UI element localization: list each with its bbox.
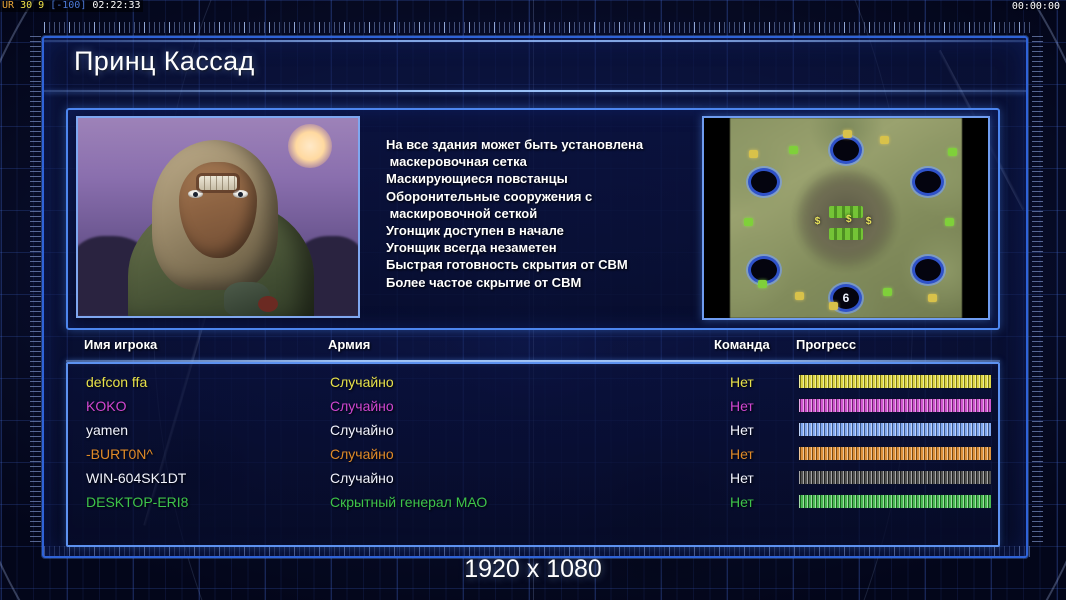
player-progress-bar bbox=[798, 494, 992, 509]
player-army[interactable]: Случайно bbox=[330, 470, 394, 486]
player-progress-fill bbox=[799, 423, 991, 436]
general-portrait bbox=[76, 116, 360, 318]
player-progress-bar bbox=[798, 446, 992, 461]
map-supply-8 bbox=[758, 280, 767, 288]
player-team[interactable]: Нет bbox=[730, 446, 754, 462]
player-name: KOKO bbox=[86, 398, 126, 414]
map-supply-12 bbox=[829, 302, 838, 310]
player-progress-fill bbox=[799, 447, 991, 460]
player-army[interactable]: Случайно bbox=[330, 422, 394, 438]
portrait-teapot bbox=[224, 282, 270, 316]
map-supply-4 bbox=[948, 148, 957, 156]
player-row[interactable]: defcon ffaСлучайноНет bbox=[68, 370, 998, 394]
player-army[interactable]: Скрытный генерал МАО bbox=[330, 494, 487, 510]
map-cash-left: $ bbox=[815, 216, 821, 227]
column-header-team: Команда bbox=[714, 337, 770, 352]
general-features-list: На все здания может быть установлена мас… bbox=[386, 136, 686, 291]
page-title: Принц Кассад bbox=[74, 46, 255, 77]
column-header-army: Армия bbox=[328, 337, 370, 352]
player-list-panel: defcon ffaСлучайноНетKOKOСлучайноНетyame… bbox=[66, 362, 1000, 547]
map-supply-center-lower bbox=[829, 228, 863, 240]
debug-ping: 9 bbox=[38, 0, 44, 11]
debug-fps: 30 bbox=[20, 0, 32, 11]
title-bar: Принц Кассад bbox=[44, 38, 1026, 92]
ruler-left bbox=[30, 36, 41, 544]
portrait-pupil-right bbox=[238, 192, 243, 197]
player-name: -BURT0N^ bbox=[86, 446, 153, 462]
debug-session-time: 02:22:33 bbox=[92, 0, 140, 11]
map-cash-right: $ bbox=[866, 216, 872, 227]
map-supply-9 bbox=[795, 292, 804, 300]
map-start-position-bottom-left bbox=[751, 259, 777, 281]
player-army[interactable]: Случайно bbox=[330, 446, 394, 462]
resolution-label: 1920 x 1080 bbox=[0, 555, 1066, 584]
column-header-progress: Прогресс bbox=[796, 337, 856, 352]
player-row[interactable]: DESKTOP-ERI8Скрытный генерал МАОНет bbox=[68, 490, 998, 514]
map-supply-2 bbox=[880, 136, 889, 144]
debug-net-label: UR bbox=[2, 0, 14, 11]
game-lobby-screen: Принц Кассад На все здания может быть ус… bbox=[0, 0, 1066, 600]
player-name: DESKTOP-ERI8 bbox=[86, 494, 188, 510]
debug-overlay: UR 30 9 [-100] 02:22:33 bbox=[0, 0, 143, 12]
map-preview[interactable]: 6 $ $ $ bbox=[702, 116, 990, 320]
portrait-eye-right bbox=[233, 190, 248, 198]
player-name: WIN-604SK1DT bbox=[86, 470, 186, 486]
title-rule-top bbox=[44, 40, 1026, 42]
sun-icon bbox=[288, 124, 332, 168]
map-start-position-top-left bbox=[751, 171, 777, 193]
player-progress-bar bbox=[798, 374, 992, 389]
player-team[interactable]: Нет bbox=[730, 494, 754, 510]
debug-latency: [-100] bbox=[50, 0, 86, 11]
player-team[interactable]: Нет bbox=[730, 398, 754, 414]
map-cash-center: $ bbox=[846, 214, 852, 225]
player-name: defcon ffa bbox=[86, 374, 147, 390]
player-row[interactable]: yamenСлучайноНет bbox=[68, 418, 998, 442]
player-team[interactable]: Нет bbox=[730, 470, 754, 486]
column-header-name: Имя игрока bbox=[84, 337, 157, 352]
player-row[interactable]: -BURT0N^СлучайноНет bbox=[68, 442, 998, 466]
portrait-pupil-left bbox=[193, 192, 198, 197]
map-supply-7 bbox=[945, 218, 954, 226]
player-progress-bar bbox=[798, 470, 992, 485]
ruler-right bbox=[1032, 36, 1043, 544]
title-rule-bottom bbox=[44, 90, 1026, 92]
player-army[interactable]: Случайно bbox=[330, 398, 394, 414]
player-progress-fill bbox=[799, 471, 991, 484]
general-info-panel: На все здания может быть установлена мас… bbox=[66, 108, 1000, 330]
player-progress-bar bbox=[798, 422, 992, 437]
player-progress-fill bbox=[799, 495, 991, 508]
map-start-position-top bbox=[833, 139, 859, 161]
player-row[interactable]: WIN-604SK1DTСлучайноНет bbox=[68, 466, 998, 490]
player-team[interactable]: Нет bbox=[730, 374, 754, 390]
map-supply-10 bbox=[883, 288, 892, 296]
map-supply-11 bbox=[928, 294, 937, 302]
player-table-header: Имя игрока Армия Команда Прогресс bbox=[66, 336, 1000, 360]
ruler-top bbox=[44, 22, 1030, 33]
map-supply-5 bbox=[843, 130, 852, 138]
player-name: yamen bbox=[86, 422, 128, 438]
player-army[interactable]: Случайно bbox=[330, 374, 394, 390]
portrait-eye-left bbox=[188, 190, 203, 198]
player-progress-fill bbox=[799, 399, 991, 412]
player-team[interactable]: Нет bbox=[730, 422, 754, 438]
game-clock: 00:00:00 bbox=[1012, 1, 1060, 12]
player-progress-bar bbox=[798, 398, 992, 413]
map-supply-6 bbox=[744, 218, 753, 226]
map-supply-3 bbox=[749, 150, 758, 158]
player-row[interactable]: KOKOСлучайноНет bbox=[68, 394, 998, 418]
player-progress-fill bbox=[799, 375, 991, 388]
portrait-teeth bbox=[199, 176, 237, 190]
map-supply-1 bbox=[789, 146, 798, 154]
